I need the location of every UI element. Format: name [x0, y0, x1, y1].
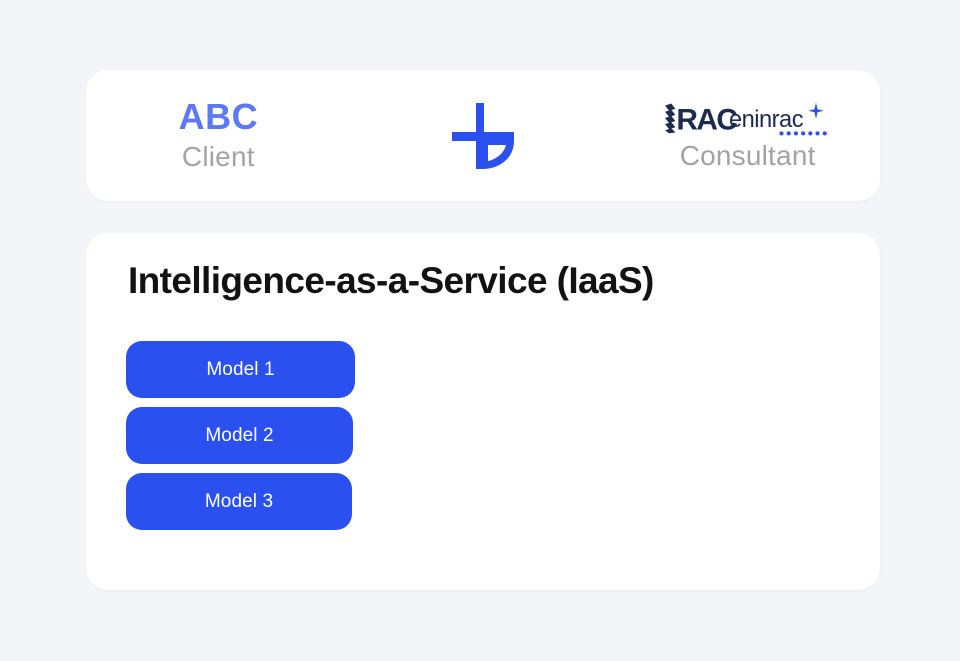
- model-3-button[interactable]: Model 3: [126, 473, 352, 530]
- page-title: Intelligence-as-a-Service (IaaS): [128, 260, 654, 302]
- t-arrow-mark-icon: [446, 99, 520, 173]
- consultant-role-label: Consultant: [680, 141, 816, 172]
- page-root: ABC Client: [0, 0, 960, 661]
- client-block: ABC Client: [86, 98, 351, 173]
- eninrac-rac-logo-icon: RAC eninrac: [663, 99, 833, 139]
- client-role-label: Client: [182, 142, 255, 173]
- model-button-list: Model 1 Model 2 Model 3: [126, 341, 355, 530]
- consultant-block: RAC eninrac: [615, 99, 880, 172]
- main-card: Intelligence-as-a-Service (IaaS) Model 1…: [86, 233, 880, 590]
- svg-text:eninrac: eninrac: [729, 107, 804, 133]
- header-card: ABC Client: [86, 70, 880, 201]
- client-name: ABC: [179, 98, 259, 136]
- model-2-button[interactable]: Model 2: [126, 407, 353, 464]
- consultant-logo-wrap: RAC eninrac: [663, 99, 833, 172]
- center-logo-block: [351, 99, 616, 173]
- model-1-button[interactable]: Model 1: [126, 341, 355, 398]
- svg-text:RAC: RAC: [676, 103, 737, 136]
